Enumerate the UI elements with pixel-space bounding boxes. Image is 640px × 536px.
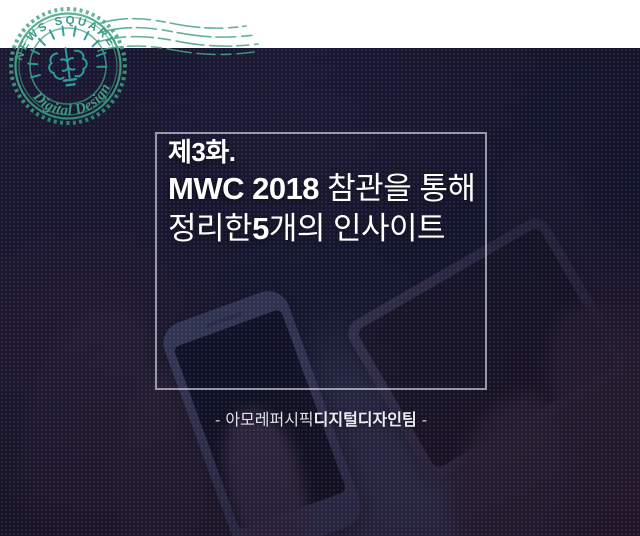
headline-line3-post: 개의 인사이트	[269, 211, 445, 246]
headline-line-3: 정리한5개의 인사이트	[168, 210, 498, 248]
episode-label: 제3화.	[168, 138, 498, 167]
headline-line3-bold: 5	[252, 211, 269, 246]
byline-team: 디지털디자인팀	[314, 412, 417, 429]
headline-line-2: MWC 2018 참관을 통해	[168, 170, 498, 208]
headline-block: 제3화. MWC 2018 참관을 통해 정리한5개의 인사이트	[168, 138, 498, 248]
byline-right-dash: -	[417, 412, 432, 429]
byline-left-dash: -	[210, 412, 225, 429]
headline-line2-bold: MWC 2018	[168, 171, 319, 206]
color-tint-overlay	[0, 0, 640, 536]
headline-line3-pre: 정리한	[168, 211, 252, 246]
top-white-strip	[0, 0, 640, 48]
news-square-card: NEWS SQUARE Digital Design	[0, 0, 640, 536]
byline: -아모레퍼시픽디지털디자인팀-	[155, 406, 487, 430]
byline-org: 아모레퍼시픽	[225, 412, 313, 429]
headline-line2-rest: 참관을 통해	[319, 171, 475, 206]
